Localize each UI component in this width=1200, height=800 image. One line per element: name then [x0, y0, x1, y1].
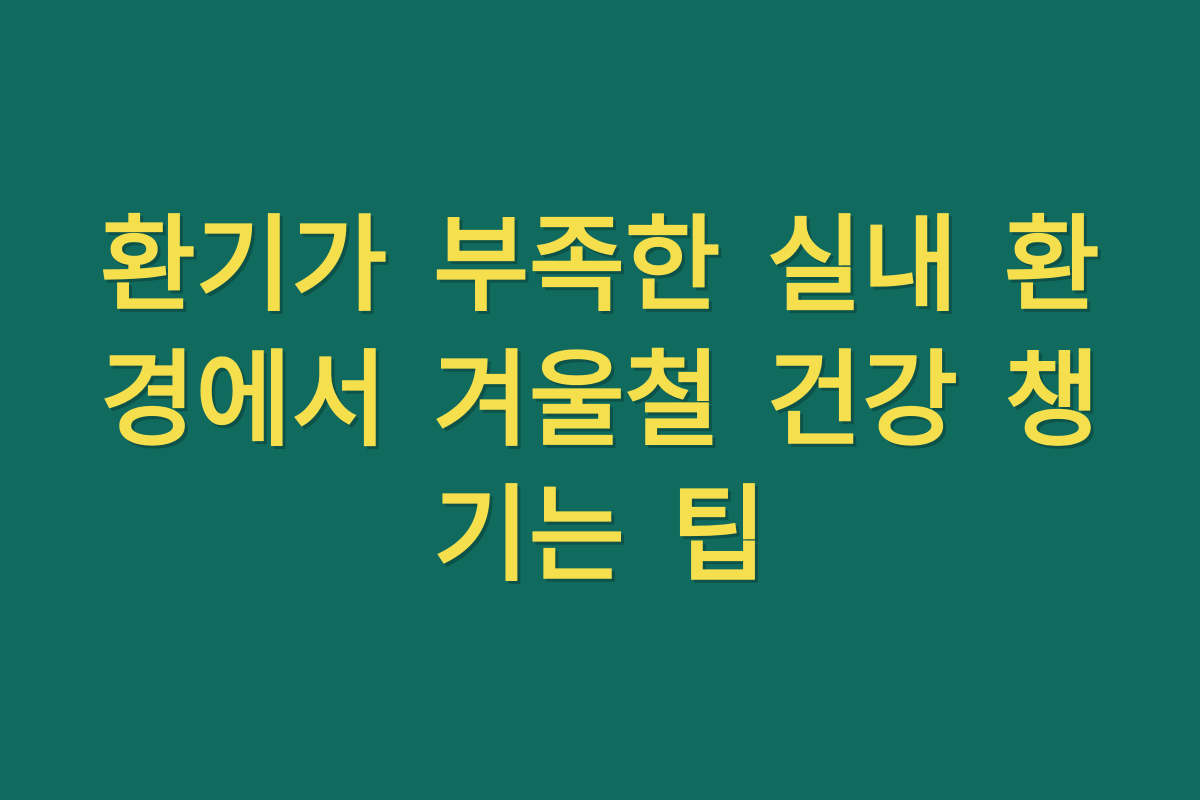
- text-card: 환기가 부족한 실내 환경에서 겨울철 건강 챙기는 팁: [0, 0, 1200, 800]
- page-title: 환기가 부족한 실내 환경에서 겨울철 건강 챙기는 팁: [100, 198, 1100, 603]
